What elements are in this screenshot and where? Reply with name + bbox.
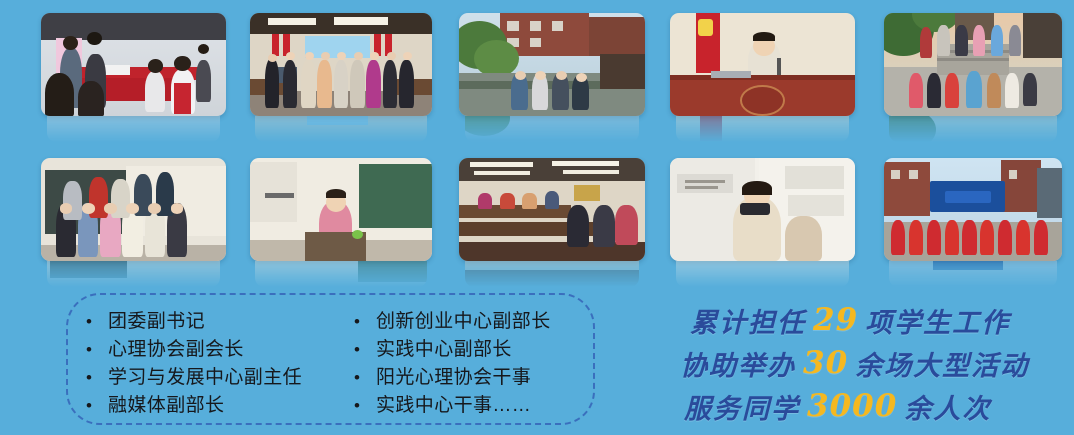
photo-r2c1-art	[41, 158, 226, 261]
roles-column-1: • 团委副书记 • 心理协会副会长 • 学习与发展中心副主任 • 融媒体副部长	[68, 295, 354, 423]
stat-number: 29	[806, 302, 865, 338]
photo-r2c5-art	[884, 158, 1062, 261]
photo-r2c3[interactable]	[459, 158, 645, 261]
stat-suffix: 项学生工作	[865, 301, 1010, 340]
photo-r2c5-frame	[884, 158, 1062, 261]
role-label: 阳光心理协会干事	[376, 362, 531, 389]
photo-r1c3-reflection	[465, 116, 640, 142]
roles-column-2: • 创新创业中心副部长 • 实践中心副部长 • 阳光心理协会干事 • 实践中心干…	[354, 295, 615, 423]
photo-r1c3-art	[459, 13, 645, 116]
photo-r1c5-frame	[884, 13, 1062, 116]
photo-r2c4[interactable]	[670, 158, 855, 261]
photo-r1c2-art	[250, 13, 432, 116]
stat-line-1: 累计担任 29 项学生工作	[690, 298, 1074, 342]
photo-r2c1-reflection	[47, 261, 221, 287]
photo-r2c4-art	[670, 158, 855, 261]
role-label: 实践中心副部长	[376, 334, 512, 361]
stat-number: 3000	[800, 388, 904, 424]
bullet-icon: •	[354, 313, 376, 330]
list-item: • 团委副书记	[86, 306, 354, 334]
photo-r1c1-reflection	[47, 116, 221, 142]
bullet-icon: •	[86, 397, 108, 414]
photo-r2c2-art	[250, 158, 432, 261]
photo-r2c2[interactable]	[250, 158, 432, 261]
stat-suffix: 余人次	[904, 387, 991, 426]
photo-r1c3[interactable]	[459, 13, 645, 116]
photo-r1c4-reflection	[676, 116, 850, 142]
role-label: 团委副书记	[108, 306, 205, 333]
photo-r2c3-frame	[459, 158, 645, 261]
stat-number: 30	[796, 345, 855, 381]
role-label: 心理协会副会长	[108, 334, 244, 361]
photo-grid	[0, 0, 1074, 290]
photo-r1c3-frame	[459, 13, 645, 116]
slide-canvas: • 团委副书记 • 心理协会副会长 • 学习与发展中心副主任 • 融媒体副部长	[0, 0, 1074, 435]
photo-r2c1-frame	[41, 158, 226, 261]
roles-columns: • 团委副书记 • 心理协会副会长 • 学习与发展中心副主任 • 融媒体副部长	[68, 295, 593, 423]
bullet-icon: •	[86, 313, 108, 330]
list-item: • 阳光心理协会干事	[354, 362, 615, 390]
photo-r2c2-frame	[250, 158, 432, 261]
photo-r2c5[interactable]	[884, 158, 1062, 261]
stats-block: 累计担任 29 项学生工作 协助举办 30 余场大型活动 服务同学 3000 余…	[676, 296, 1068, 432]
photo-r1c2-reflection	[255, 116, 426, 142]
photo-r2c4-frame	[670, 158, 855, 261]
stat-prefix: 服务同学	[684, 387, 800, 426]
photo-r1c5-art	[884, 13, 1062, 116]
photo-r1c2[interactable]	[250, 13, 432, 116]
photo-r2c4-reflection	[676, 261, 850, 287]
photo-r2c3-reflection	[465, 261, 640, 287]
photo-r1c4-frame	[670, 13, 855, 116]
role-label: 学习与发展中心副主任	[108, 362, 302, 389]
bullet-icon: •	[86, 369, 108, 386]
stat-suffix: 余场大型活动	[855, 344, 1029, 383]
stat-prefix: 协助举办	[680, 344, 796, 383]
roles-panel: • 团委副书记 • 心理协会副会长 • 学习与发展中心副主任 • 融媒体副部长	[66, 293, 595, 425]
photo-r1c1[interactable]	[41, 13, 226, 116]
role-label: 融媒体副部长	[108, 390, 224, 417]
photo-r1c1-art	[41, 13, 226, 116]
list-item: • 创新创业中心副部长	[354, 306, 615, 334]
bullet-icon: •	[354, 341, 376, 358]
role-label: 实践中心干事……	[376, 390, 531, 417]
list-item: • 实践中心副部长	[354, 334, 615, 362]
list-item: • 学习与发展中心副主任	[86, 362, 354, 390]
stat-line-2: 协助举办 30 余场大型活动	[680, 341, 1072, 385]
photo-r1c1-frame	[41, 13, 226, 116]
photo-r1c4[interactable]	[670, 13, 855, 116]
bullet-icon: •	[354, 369, 376, 386]
photo-r2c5-reflection	[889, 261, 1056, 287]
bullet-icon: •	[354, 397, 376, 414]
photo-r1c2-frame	[250, 13, 432, 116]
photo-r2c3-art	[459, 158, 645, 261]
list-item: • 实践中心干事……	[354, 390, 615, 418]
photo-r1c5-reflection	[889, 116, 1056, 142]
role-label: 创新创业中心副部长	[376, 306, 551, 333]
photo-r2c1[interactable]	[41, 158, 226, 261]
stat-line-3: 服务同学 3000 余人次	[684, 384, 1074, 428]
stat-prefix: 累计担任	[690, 301, 806, 340]
bullet-icon: •	[86, 341, 108, 358]
list-item: • 融媒体副部长	[86, 390, 354, 418]
photo-r1c4-art	[670, 13, 855, 116]
photo-r1c5[interactable]	[884, 13, 1062, 116]
photo-r2c2-reflection	[255, 261, 426, 287]
list-item: • 心理协会副会长	[86, 334, 354, 362]
